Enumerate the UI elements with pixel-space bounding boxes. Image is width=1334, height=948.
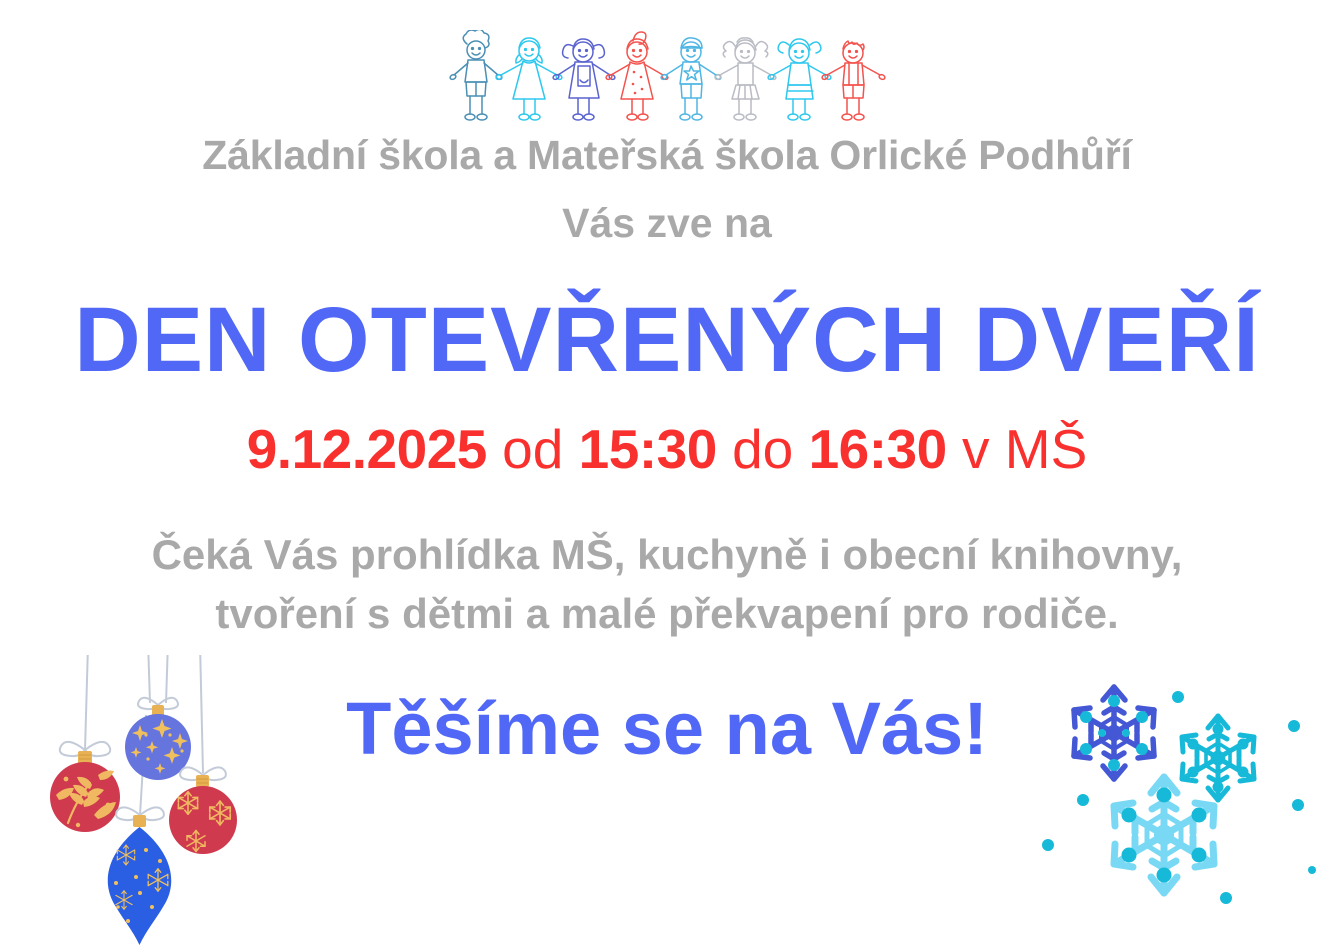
child-figure-1 (449, 30, 502, 120)
snowflake-sky (1114, 777, 1214, 893)
bauble-periwinkle-stars (125, 705, 191, 780)
event-description: Čeká Vás prohlídka MŠ, kuchyně i obecní … (0, 525, 1334, 644)
event-location: v MŠ (962, 418, 1087, 480)
invitation-line: Vás zve na (0, 202, 1334, 246)
page-title: DEN OTEVŘENÝCH DVEŘÍ (0, 294, 1334, 386)
snowflake-teal (1182, 716, 1254, 800)
poster-canvas: Základní škola a Mateřská škola Orlické … (0, 0, 1334, 948)
snowflake-cluster-illustration (1036, 670, 1326, 910)
bauble-blue-teardrop (108, 815, 171, 945)
child-figure-3 (552, 39, 615, 120)
child-figure-5 (660, 38, 721, 120)
event-date: 9.12.2025 (247, 418, 487, 480)
event-datetime-line: 9.12.2025 od 15:30 do 16:30 v MŠ (0, 422, 1334, 477)
child-figure-8 (821, 41, 885, 120)
school-name-line: Základní škola a Mateřská škola Orlické … (0, 134, 1334, 178)
child-figure-6 (714, 38, 776, 120)
bauble-red-snowflakes (169, 775, 237, 854)
child-figure-2 (495, 38, 562, 120)
children-holding-hands-illustration (447, 30, 887, 136)
christmas-baubles-illustration (28, 655, 288, 945)
time-connector-to: do (732, 418, 793, 480)
child-figure-7 (767, 39, 831, 120)
time-connector-from: od (502, 418, 563, 480)
description-line-1: Čeká Vás prohlídka MŠ, kuchyně i obecní … (0, 525, 1334, 585)
time-start: 15:30 (579, 418, 717, 480)
time-end: 16:30 (809, 418, 947, 480)
snowflake-indigo (1074, 687, 1154, 779)
bauble-red-leaves (50, 751, 120, 832)
description-line-2: tvoření s dětmi a malé překvapení pro ro… (0, 584, 1334, 644)
scattered-snow-dots (1042, 691, 1316, 904)
